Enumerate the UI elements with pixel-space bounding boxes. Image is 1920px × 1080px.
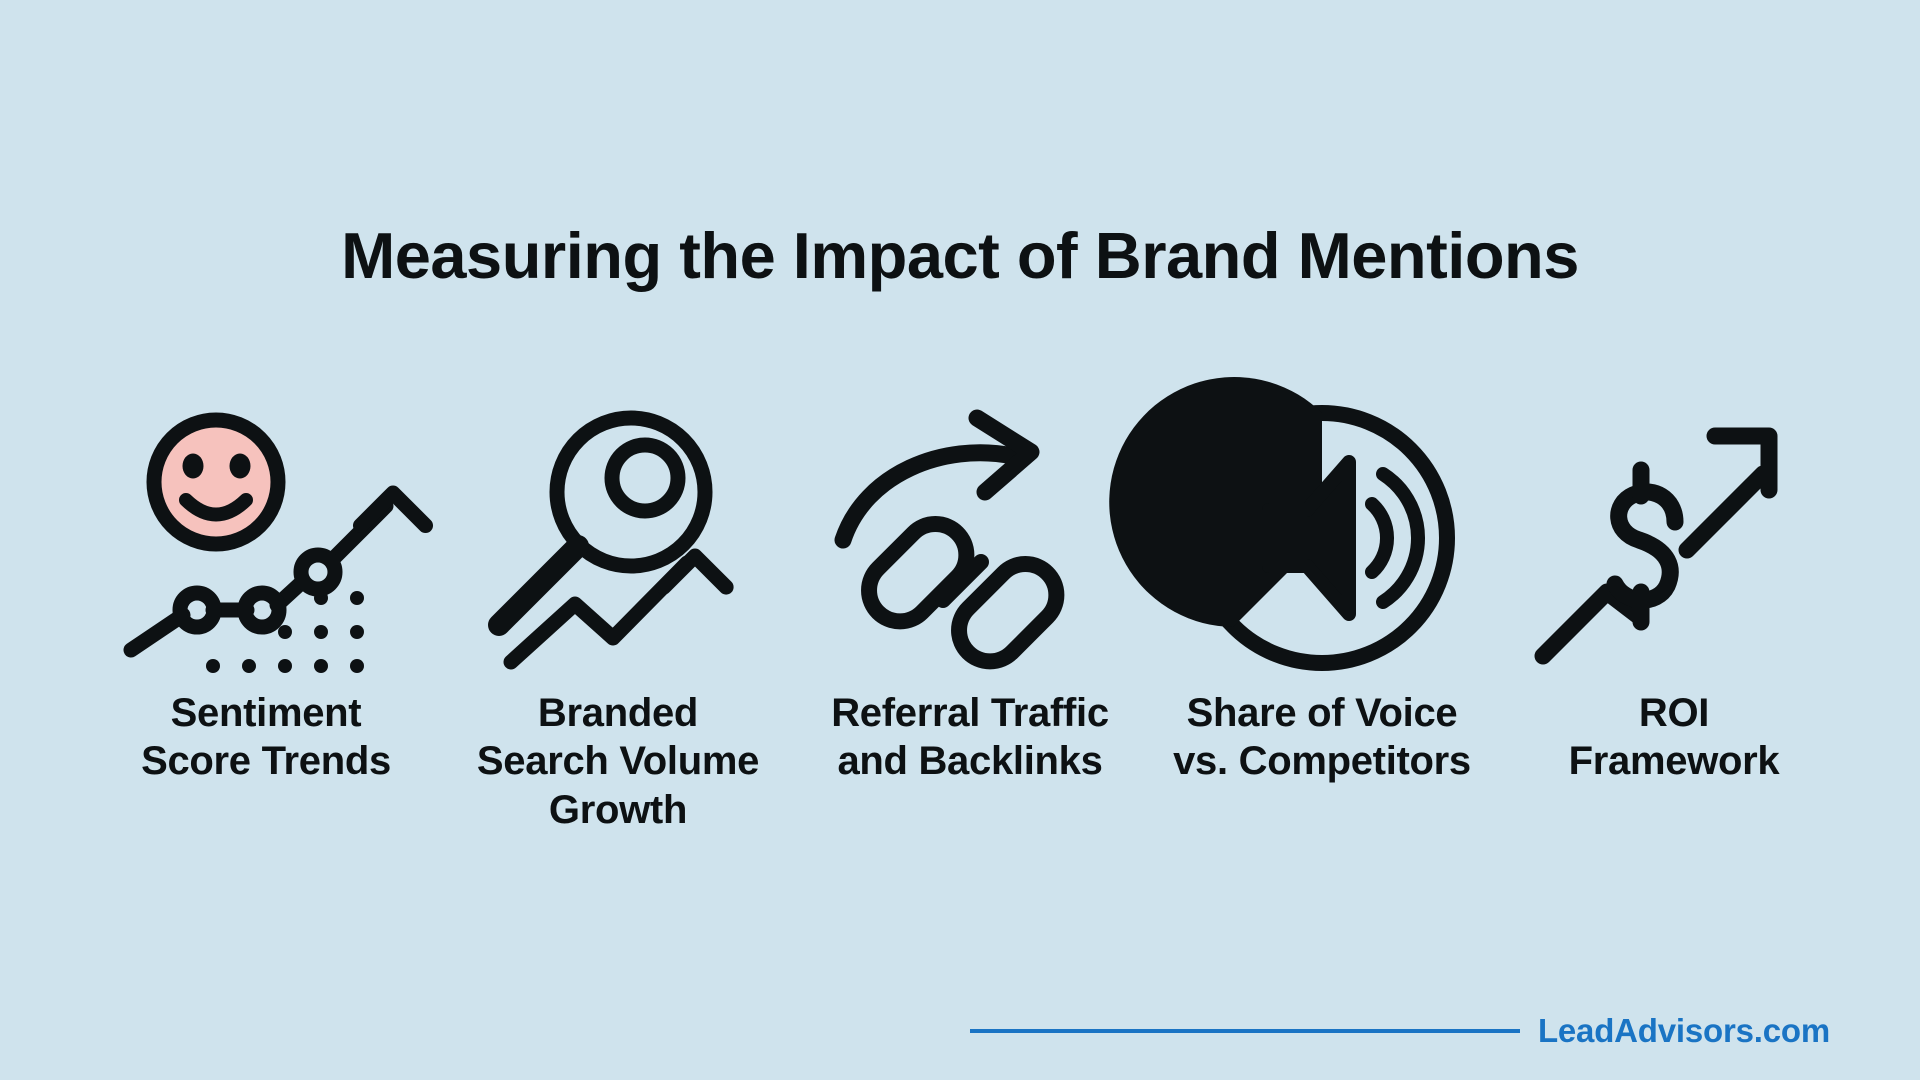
footer-divider-rule bbox=[970, 1029, 1520, 1033]
metric-label-line-1: Referral Traffic bbox=[831, 689, 1109, 737]
dollar-sign-up-arrow-icon bbox=[1529, 400, 1819, 675]
metrics-row: Sentiment Score Trends bbox=[96, 400, 1844, 834]
chain-link-arrow-icon bbox=[825, 400, 1115, 675]
magnifier-growth-arrow-icon bbox=[473, 400, 763, 675]
metric-label-line-1: Sentiment bbox=[141, 689, 391, 737]
pie-chart-speaker-icon bbox=[1177, 400, 1467, 675]
metric-label-line-3: Growth bbox=[477, 786, 759, 834]
metric-label: Referral Traffic and Backlinks bbox=[831, 689, 1109, 786]
metric-label-line-2: Score Trends bbox=[141, 737, 391, 785]
metric-label-line-2: Framework bbox=[1569, 737, 1780, 785]
infographic-slide: Measuring the Impact of Brand Mentions bbox=[0, 0, 1920, 1080]
smiley-face-trend-chart-icon bbox=[121, 400, 411, 675]
metric-column-branded-search-volume-growth: Branded Search Volume Growth bbox=[448, 400, 788, 834]
footer: LeadAdvisors.com bbox=[970, 1008, 1830, 1054]
metric-column-referral-traffic-and-backlinks: Referral Traffic and Backlinks bbox=[800, 400, 1140, 786]
metric-label-line-1: ROI bbox=[1569, 689, 1780, 737]
metric-label: Share of Voice vs. Competitors bbox=[1173, 689, 1471, 786]
page-title: Measuring the Impact of Brand Mentions bbox=[0, 222, 1920, 290]
metric-label: ROI Framework bbox=[1569, 689, 1780, 786]
brand-website-label[interactable]: LeadAdvisors.com bbox=[1538, 1012, 1830, 1050]
metric-label-line-1: Share of Voice bbox=[1173, 689, 1471, 737]
metric-label-line-2: vs. Competitors bbox=[1173, 737, 1471, 785]
metric-label: Branded Search Volume Growth bbox=[477, 689, 759, 834]
metric-label-line-1: Branded bbox=[477, 689, 759, 737]
metric-label-line-2: Search Volume bbox=[477, 737, 759, 785]
metric-column-roi-framework: ROI Framework bbox=[1504, 400, 1844, 786]
metric-label: Sentiment Score Trends bbox=[141, 689, 391, 786]
metric-column-sentiment-score-trends: Sentiment Score Trends bbox=[96, 400, 436, 786]
metric-label-line-2: and Backlinks bbox=[831, 737, 1109, 785]
metric-column-share-of-voice: Share of Voice vs. Competitors bbox=[1152, 400, 1492, 786]
